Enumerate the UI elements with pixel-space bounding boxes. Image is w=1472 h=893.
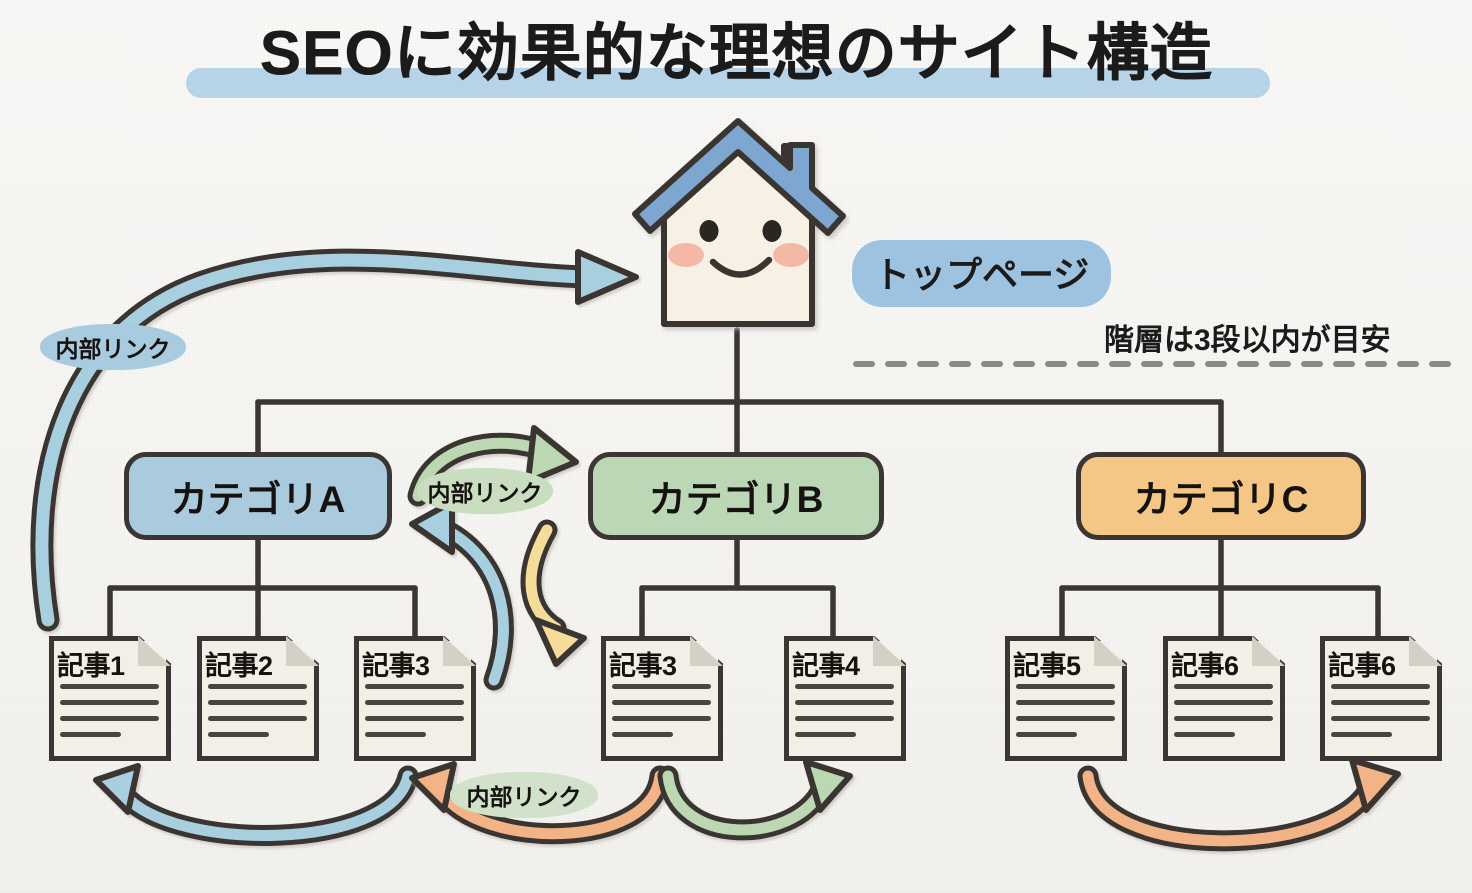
doc-text-lines: [612, 684, 711, 748]
doc-label: 記事6: [1171, 644, 1239, 683]
page-title-block: SEOに効果的な理想のサイト構造: [0, 2, 1472, 92]
doc-label: 記事5: [1013, 644, 1081, 683]
doc-label: 記事4: [792, 644, 860, 683]
doc-text-lines: [1174, 684, 1273, 748]
article-doc[interactable]: 記事3: [601, 636, 723, 761]
arrow-categoryB-to-article3: [531, 530, 584, 664]
doc-label: 記事3: [362, 644, 430, 683]
depth-limit-note: 階層は3段以内が目安: [1104, 315, 1391, 359]
doc-text-lines: [795, 684, 894, 748]
toppage-label: トップページ: [852, 240, 1111, 307]
doc-label: 記事1: [57, 644, 125, 683]
article-doc[interactable]: 記事6: [1163, 636, 1285, 761]
house-eye-right: [763, 220, 782, 242]
arrow-article5-to-article6: [1088, 760, 1398, 841]
category-box-a[interactable]: カテゴリA: [124, 452, 392, 540]
category-box-b[interactable]: カテゴリB: [588, 452, 884, 540]
top-page-house-icon: [635, 121, 843, 324]
internal-link-label: 内部リンク: [40, 324, 186, 370]
doc-label: 記事3: [609, 644, 677, 683]
doc-text-lines: [208, 684, 307, 748]
article-doc[interactable]: 記事5: [1005, 636, 1127, 761]
article-doc[interactable]: 記事1: [49, 636, 171, 761]
article-doc[interactable]: 記事4: [784, 636, 906, 761]
doc-text-lines: [365, 684, 464, 748]
doc-text-lines: [1331, 684, 1430, 748]
article-doc[interactable]: 記事6: [1320, 636, 1442, 761]
doc-text-lines: [60, 684, 159, 748]
internal-link-label: 内部リンク: [450, 772, 598, 818]
category-box-c[interactable]: カテゴリC: [1076, 452, 1366, 540]
page-title: SEOに効果的な理想のサイト構造: [0, 2, 1472, 92]
arrow-article3-to-article1: [96, 766, 408, 835]
doc-label: 記事6: [1328, 644, 1396, 683]
house-eye-left: [700, 220, 719, 242]
article-doc[interactable]: 記事3: [354, 636, 476, 761]
arrow-articleB3-to-article4: [668, 762, 850, 830]
article-doc[interactable]: 記事2: [197, 636, 319, 761]
doc-label: 記事2: [205, 644, 273, 683]
house-cheek-left: [668, 243, 704, 267]
internal-link-label: 内部リンク: [417, 468, 553, 514]
doc-text-lines: [1016, 684, 1115, 748]
house-cheek-right: [773, 243, 809, 267]
